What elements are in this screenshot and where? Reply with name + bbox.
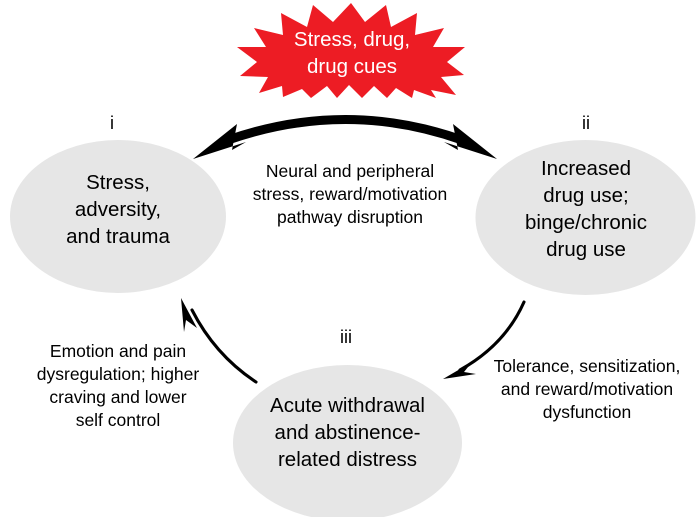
node-ellipse-drug-use[interactable]	[476, 140, 696, 295]
edge-label-emotion: Emotion and pain dysregulation; higher c…	[8, 340, 228, 432]
node-numeral-i: i	[88, 113, 136, 133]
node-numeral-iii: iii	[322, 327, 370, 347]
node-numeral-ii: ii	[562, 113, 610, 133]
node-ellipse-withdrawal[interactable]	[233, 365, 462, 517]
diagram-canvas: Stress, drug, drug cues i ii iii Stress,…	[0, 0, 700, 517]
edge-label-tolerance: Tolerance, sensitization, and reward/mot…	[474, 355, 700, 424]
node-ellipse-stress[interactable]	[10, 140, 226, 293]
starburst-label: Stress, drug, drug cues	[252, 26, 452, 80]
edge-bidirectional-arrow	[193, 120, 497, 160]
edge-label-center: Neural and peripheral stress, reward/mot…	[225, 160, 475, 229]
